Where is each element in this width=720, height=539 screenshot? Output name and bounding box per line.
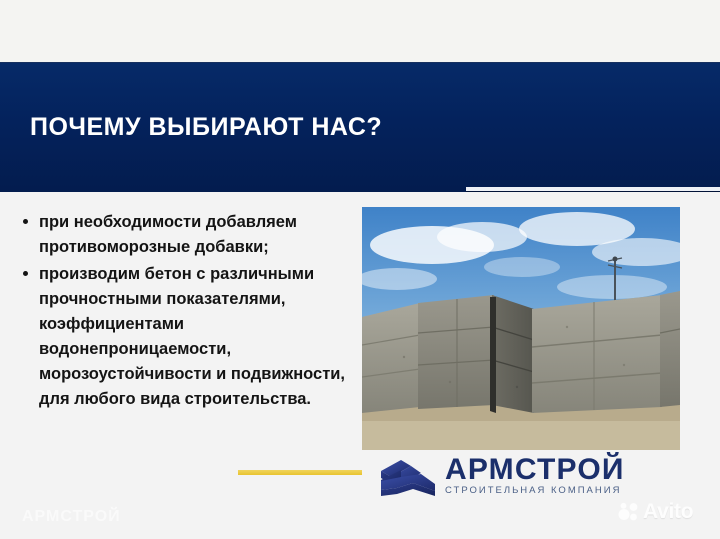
- body-area: при необходимости добавляем противомороз…: [0, 192, 720, 539]
- stacked-building-levels-icon: [377, 457, 439, 499]
- bullet-dot-icon: [23, 271, 28, 276]
- accent-bar: [238, 470, 362, 475]
- company-logo: АРМСТРОЙ СТРОИТЕЛЬНАЯ КОМПАНИЯ: [377, 454, 647, 502]
- logo-company-subtitle: СТРОИТЕЛЬНАЯ КОМПАНИЯ: [445, 485, 650, 497]
- avito-watermark: Avito: [618, 500, 693, 524]
- list-item: производим бетон с различными прочностны…: [18, 262, 358, 412]
- avito-dots-icon: [618, 502, 640, 522]
- benefits-list: при необходимости добавляем противомороз…: [18, 210, 358, 414]
- bullet-dot-icon: [23, 219, 28, 224]
- promo-slide: ПОЧЕМУ ВЫБИРАЮТ НАС? при необходимости д…: [0, 0, 720, 539]
- list-item-label: при необходимости добавляем противомороз…: [39, 213, 297, 256]
- concrete-blocks-photo-illustration: [362, 207, 680, 450]
- logo-text-block: АРМСТРОЙ СТРОИТЕЛЬНАЯ КОМПАНИЯ: [445, 454, 650, 497]
- product-photo: [362, 207, 680, 450]
- header-band: ПОЧЕМУ ВЫБИРАЮТ НАС?: [0, 62, 720, 193]
- background-watermark: АРМСТРОЙ: [22, 508, 121, 526]
- page-title: ПОЧЕМУ ВЫБИРАЮТ НАС?: [30, 113, 382, 142]
- top-strip: [0, 0, 720, 62]
- avito-wordmark: Avito: [643, 500, 693, 524]
- header-rule: [466, 187, 720, 191]
- logo-company-name: АРМСТРОЙ: [445, 454, 650, 485]
- list-item-label: производим бетон с различными прочностны…: [39, 265, 345, 408]
- list-item: при необходимости добавляем противомороз…: [18, 210, 358, 260]
